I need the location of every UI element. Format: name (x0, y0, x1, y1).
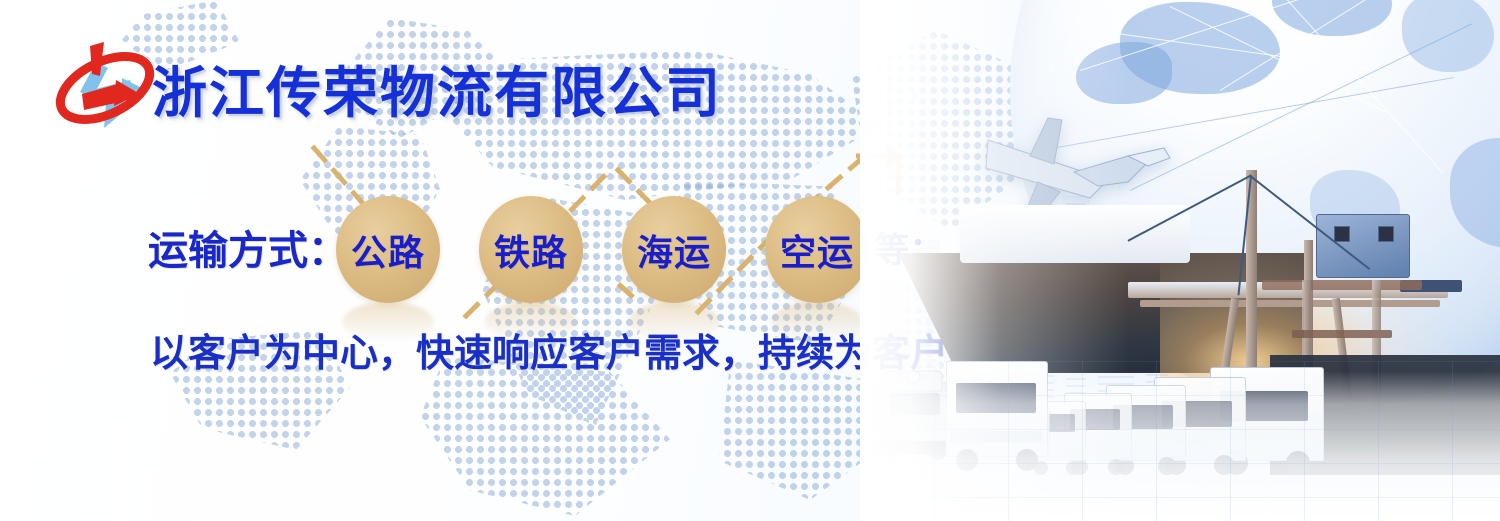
company-title: 浙江传荣物流有限公司 (152, 48, 722, 128)
orbit-arrow-logo (46, 32, 164, 144)
transport-mode-road-label: 公路 (351, 224, 425, 276)
transport-mode-rail-label: 铁路 (494, 224, 568, 276)
transport-mode-road[interactable]: 公路 (336, 196, 440, 303)
transport-mode-label: 运输方式： (148, 218, 348, 276)
transport-mode-air[interactable]: 空运 (765, 196, 869, 303)
logistics-banner: 浙江传荣物流有限公司 运输方式： 公路 铁路 海运 空运 等； 以客户为中心，快… (0, 0, 1500, 521)
transport-mode-rail[interactable]: 铁路 (479, 196, 583, 303)
transport-mode-sea[interactable]: 海运 (622, 196, 726, 303)
logistics-photo-collage (860, 0, 1500, 521)
perspective-grid (860, 361, 1500, 521)
transport-mode-air-label: 空运 (780, 224, 854, 276)
transport-mode-sea-label: 海运 (637, 224, 711, 276)
